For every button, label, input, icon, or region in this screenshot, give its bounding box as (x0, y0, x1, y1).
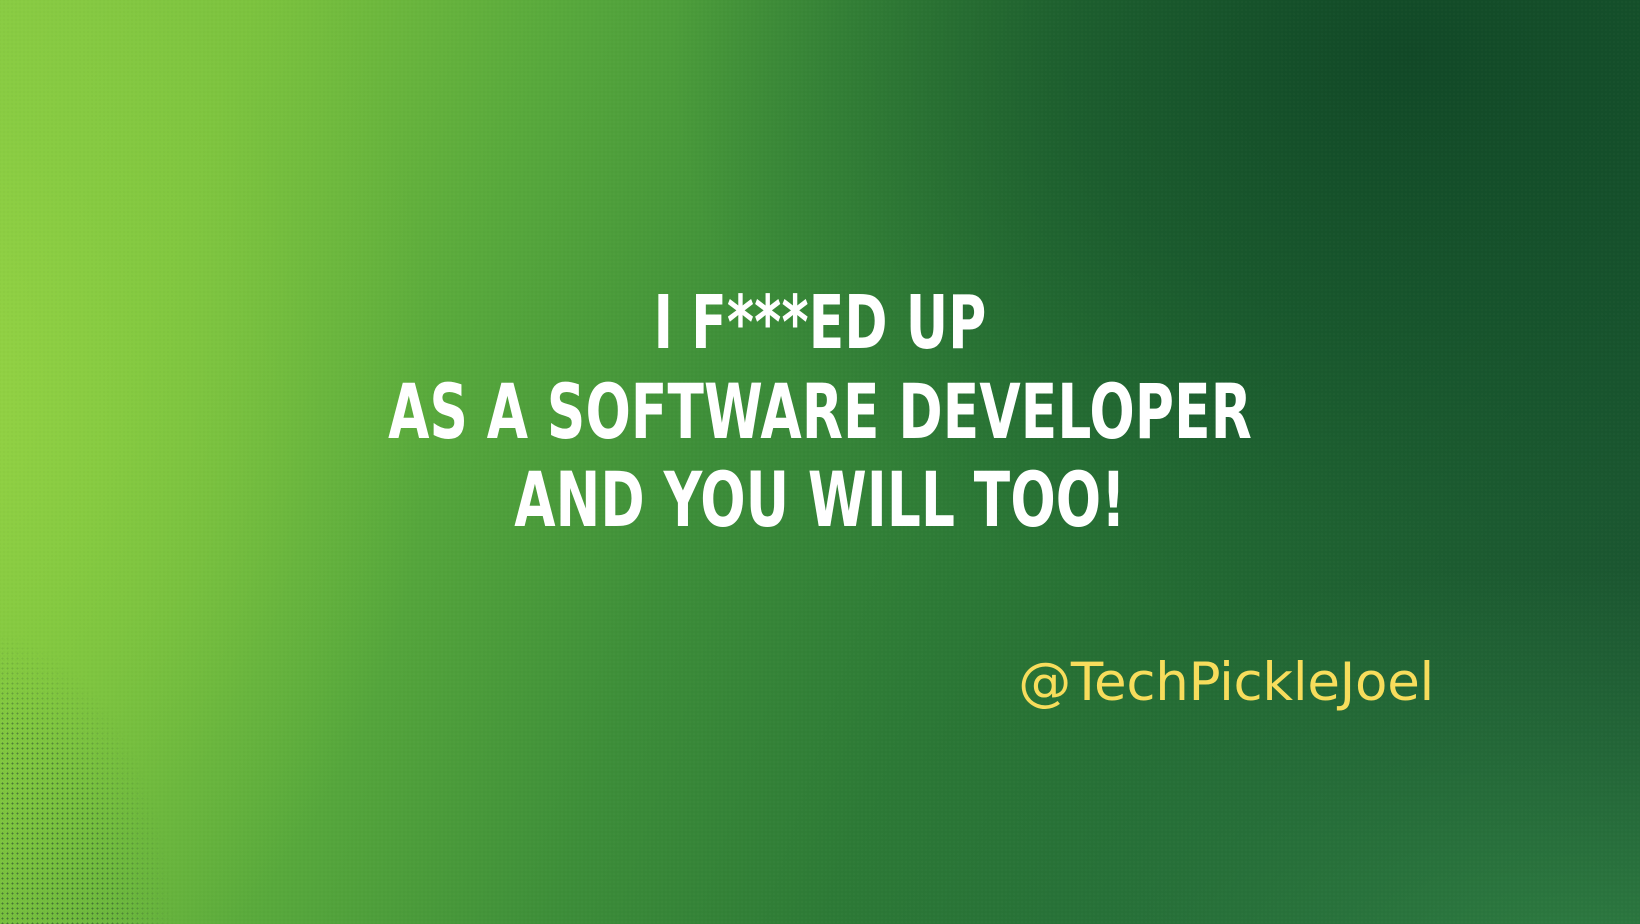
headline: I F***ED UP AS A SOFTWARE DEVELOPER AND … (0, 286, 1640, 538)
quote-card: I F***ED UP AS A SOFTWARE DEVELOPER AND … (0, 0, 1640, 924)
headline-line-2: AS A SOFTWARE DEVELOPER (180, 374, 1459, 450)
author-handle: @TechPickleJoel (1018, 652, 1434, 713)
headline-line-3: AND YOU WILL TOO! (180, 462, 1459, 538)
headline-line-1: I F***ED UP (180, 286, 1459, 360)
